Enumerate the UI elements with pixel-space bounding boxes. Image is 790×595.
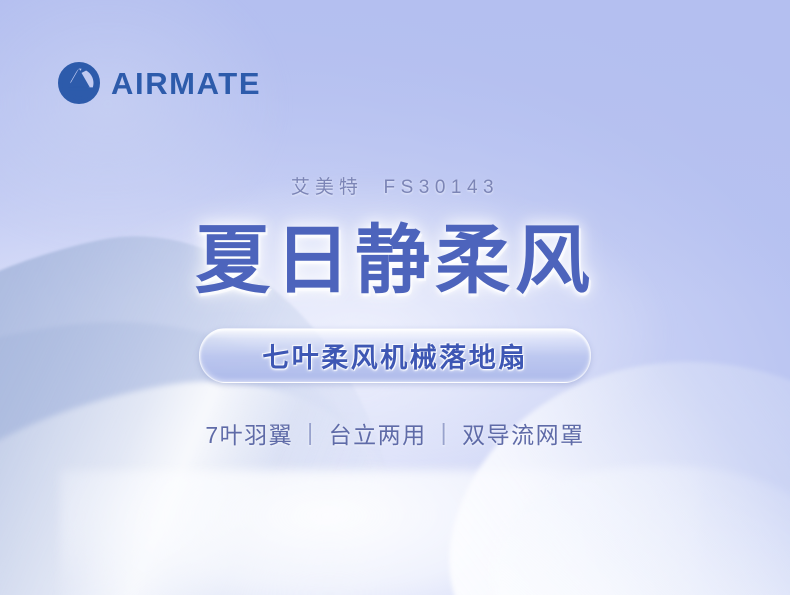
product-type-badge: 七叶柔风机械落地扇 — [199, 328, 591, 383]
feature-list: 7叶羽翼 | 台立两用 | 双导流网罩 — [205, 416, 584, 450]
product-banner: AIRMATE 艾美特 FS30143 夏日静柔风 七叶柔风机械落地扇 7叶羽翼… — [0, 0, 790, 595]
airmate-triangle-circle-logo-icon — [58, 62, 100, 104]
brand-model-line: 艾美特 FS30143 — [291, 172, 499, 199]
hero-content: 艾美特 FS30143 夏日静柔风 七叶柔风机械落地扇 7叶羽翼 | 台立两用 … — [0, 172, 790, 450]
model-number: FS30143 — [383, 177, 499, 198]
feature-item-3: 双导流网罩 — [462, 416, 585, 450]
hero-headline: 夏日静柔风 — [195, 221, 595, 300]
brand-logo: AIRMATE — [58, 62, 261, 104]
feature-separator-1: | — [307, 419, 314, 446]
feature-item-2: 台立两用 — [329, 416, 427, 450]
brand-name-cn: 艾美特 — [291, 177, 363, 198]
product-type-badge-label: 七叶柔风机械落地扇 — [262, 336, 528, 375]
feature-separator-2: | — [441, 419, 448, 446]
brand-wordmark: AIRMATE — [111, 68, 261, 99]
feature-item-1: 7叶羽翼 — [205, 416, 293, 450]
